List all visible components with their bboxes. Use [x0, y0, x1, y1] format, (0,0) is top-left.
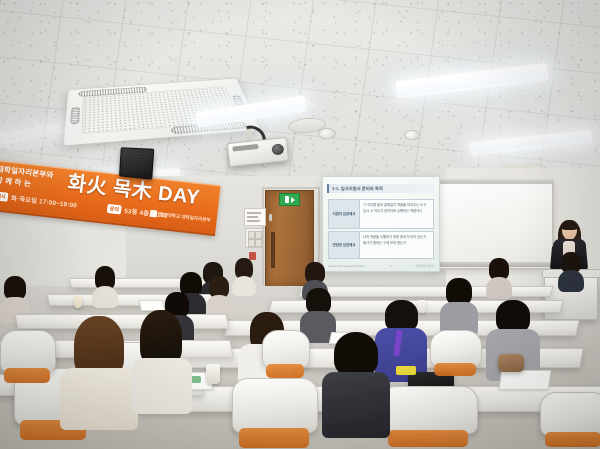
slide-row-1-label: 지원자 입장에서	[329, 200, 360, 228]
light-switch-2[interactable]	[255, 231, 262, 239]
seminar-attendee	[558, 252, 584, 288]
slide-row-2-content: 나의 역량을 수행하기 위한 준비가 되어 있는가 회사가 원하는 구체 보여 …	[360, 232, 433, 258]
banner-organization-logo: 한양대학교 대학일자리본부	[150, 210, 211, 224]
slide-title-text: 1-1. 입사지원서 준비의 목적	[332, 186, 383, 192]
banner-subtitle-block: 대학일자리본부와 함 께 하 는	[0, 164, 69, 193]
attendee-body	[232, 276, 256, 296]
chair-seat	[388, 430, 469, 447]
pointing-hand-icon: ☞	[189, 190, 200, 204]
whiteboard	[432, 182, 554, 270]
notice-line-3	[247, 220, 260, 222]
door-vent-slot	[271, 232, 275, 268]
yellow-item	[396, 366, 416, 375]
projection-screen: 1-1. 입사지원서 준비의 목적 지원자 입장에서 그 직무를 맡아 잘해낼지…	[322, 176, 440, 272]
slide-row-2-label: 면접관 입장에서	[329, 232, 360, 258]
banner-place-chip: 문의	[107, 204, 122, 215]
chair-seat	[266, 364, 305, 378]
slide-row-2-line-2: 회사가 원하는 구체 보여 왔는가	[363, 241, 430, 245]
wall-speaker	[119, 147, 154, 179]
chair[interactable]	[540, 392, 600, 449]
notice-line-1	[247, 212, 261, 214]
chair[interactable]	[262, 330, 308, 382]
seminar-attendee	[232, 258, 256, 292]
notebook-paper	[499, 370, 552, 390]
slide-row-1-line-1: 그 직무를 맡아 잘해낼지 역량을 보여주는 도구	[363, 203, 430, 207]
slide-footer-right: 대학일자리본부	[416, 264, 434, 268]
chair-seat	[434, 363, 476, 376]
classroom-photo-scene: 대학일자리본부와 함 께 하 는 화火 목木 DAY ☞ 일시 화·목요일 17…	[0, 0, 600, 449]
light-switch-3[interactable]	[248, 239, 255, 247]
banner-time-chip: 일시	[0, 191, 9, 202]
chair-back	[540, 392, 600, 436]
running-figure-icon	[285, 196, 289, 203]
slide-table-row-2: 면접관 입장에서 나의 역량을 수행하기 위한 준비가 되어 있는가 회사가 원…	[328, 231, 434, 259]
door-handle[interactable]	[269, 214, 272, 221]
chair-back	[430, 330, 482, 367]
attendee-body	[132, 358, 192, 414]
attendee-body	[486, 277, 512, 299]
seminar-attendee	[92, 266, 118, 304]
banner-time-text: 화·목요일 17:00~19:00	[11, 193, 78, 209]
banner-org-text: 한양대학교 대학일자리본부	[159, 211, 211, 223]
attendee-hair	[446, 278, 472, 305]
slide-footer: Career Development Program 3 대학일자리본부	[328, 264, 434, 268]
exit-arrow-icon	[291, 197, 295, 203]
seminar-attendee	[486, 258, 512, 294]
slide-table-row-1: 지원자 입장에서 그 직무를 맡아 잘해낼지 역량을 보여주는 도구 입사 시 …	[328, 199, 434, 229]
chair[interactable]	[380, 386, 476, 449]
slide-footer-left: Career Development Program	[328, 264, 365, 268]
slide-row-1-label-text: 지원자 입장에서	[333, 212, 356, 216]
slide-page-number: 3	[390, 264, 392, 268]
chair[interactable]	[232, 378, 316, 449]
seminar-attendee	[440, 278, 478, 332]
chair-back	[0, 330, 56, 373]
attendee-body	[322, 372, 390, 438]
ac-vent-left	[70, 107, 80, 125]
attendee-body	[558, 270, 584, 292]
slide-row-2-label-text: 면접관 입장에서	[333, 243, 356, 247]
clear-plastic-cup	[206, 364, 220, 384]
emergency-exit-sign	[279, 193, 300, 206]
chair-seat	[545, 432, 600, 448]
ceiling-speaker-icon	[404, 130, 420, 140]
seminar-attendee	[206, 276, 232, 316]
chair-seat	[239, 428, 310, 448]
attendee-hair	[334, 332, 378, 376]
clear-plastic-cup	[74, 296, 82, 308]
slide-title-bar: 1-1. 입사지원서 준비의 목적	[327, 184, 434, 193]
chair[interactable]	[430, 330, 480, 380]
projector-lens-icon	[271, 143, 284, 155]
seminar-attendee	[322, 332, 390, 432]
smoke-detector-icon	[318, 128, 336, 139]
presenter-hair-front	[561, 221, 578, 230]
chair[interactable]	[0, 330, 54, 388]
notice-line-2	[247, 216, 258, 218]
logo-mark-icon	[150, 210, 158, 218]
slide-row-2-line-1: 나의 역량을 수행하기 위한 준비가 되어 있는가	[363, 235, 430, 239]
chair-back	[262, 330, 310, 368]
seminar-attendee	[132, 310, 192, 406]
wall-notice-plate	[244, 208, 266, 226]
chair-back	[380, 386, 478, 434]
light-switch-panel[interactable]	[245, 228, 263, 248]
chair-seat	[4, 368, 49, 383]
attendee-body	[92, 286, 118, 308]
seminar-attendee	[60, 316, 138, 424]
slide-row-1-line-2: 입사 시 직무가 공직자와 수행하는 역량이다	[363, 209, 430, 213]
slide-row-1-content: 그 직무를 맡아 잘해낼지 역량을 보여주는 도구 입사 시 직무가 공직자와 …	[360, 200, 433, 228]
table-row-back-right	[298, 286, 553, 297]
handbag	[498, 354, 524, 372]
projector-body-band	[232, 144, 258, 152]
speaker-grille	[123, 151, 150, 175]
attendee-body	[60, 368, 138, 430]
light-switch-1[interactable]	[248, 231, 255, 239]
chair-back	[232, 378, 318, 433]
light-switch-4[interactable]	[255, 239, 262, 247]
